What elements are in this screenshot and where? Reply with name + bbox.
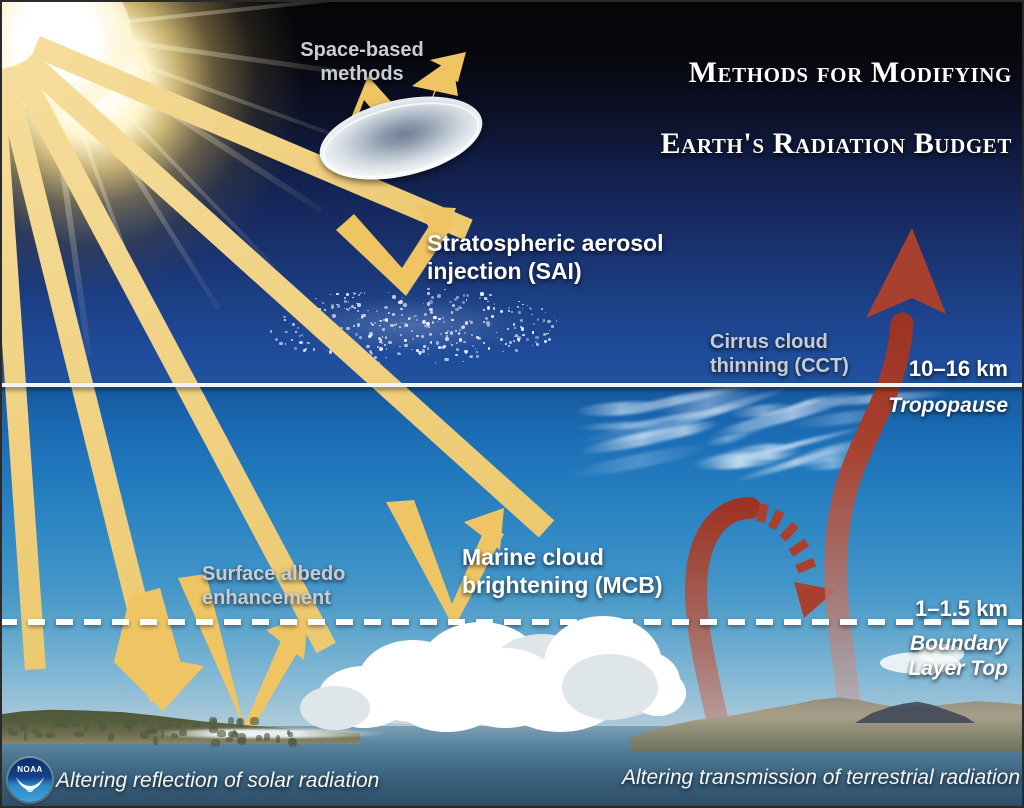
vegetation-speck (228, 717, 234, 725)
vegetation-speck (179, 729, 187, 736)
tropopause-line (0, 383, 1024, 387)
vegetation-speck (129, 720, 137, 726)
vegetation-speck (108, 733, 114, 741)
vegetation-speck (177, 721, 181, 725)
vegetation-speck (12, 715, 18, 723)
vegetation-speck (115, 713, 122, 717)
vegetation-speck (20, 724, 27, 731)
vegetation-speck (153, 736, 158, 745)
vegetation-speck (44, 716, 49, 719)
sky-stratosphere-layer (0, 0, 1024, 386)
noaa-seagull-icon (15, 776, 45, 794)
vegetation-speck (230, 732, 238, 738)
vegetation-speck (32, 729, 38, 733)
infographic-canvas: Methods for Modifying Earth's Radiation … (0, 0, 1024, 808)
vegetation-speck (45, 733, 55, 738)
vegetation-speck (38, 714, 44, 719)
vegetation-speck (236, 718, 244, 727)
vegetation-speck (8, 727, 14, 735)
vegetation-speck (98, 719, 105, 724)
vegetation-speck (171, 733, 178, 738)
vegetation-speck (74, 732, 84, 737)
vegetation-speck (148, 727, 157, 734)
vegetation-speck (276, 735, 280, 743)
vegetation-speck (192, 723, 201, 727)
sky-troposphere-layer (0, 386, 1024, 726)
vegetation-speck (209, 717, 217, 725)
vegetation-speck (161, 731, 164, 738)
small-cloud-icon (918, 644, 964, 664)
noaa-logo: NOAA (8, 758, 52, 802)
vegetation-speck (264, 733, 270, 741)
noaa-logo-text: NOAA (8, 765, 52, 774)
vegetation-speck (209, 726, 218, 733)
vegetation-speck (2, 715, 12, 721)
vegetation-speck (256, 735, 262, 741)
vegetation-speck (157, 724, 166, 729)
vegetation-speck (217, 730, 226, 737)
vegetation-speck (71, 722, 80, 726)
vegetation-speck (211, 739, 220, 747)
vegetation-speck (250, 717, 259, 725)
vegetation-speck (141, 717, 145, 723)
vegetation-speck (182, 721, 188, 724)
vegetation-speck (61, 720, 68, 728)
vegetation-speck (238, 737, 246, 745)
vegetation-speck (84, 722, 89, 731)
boundary-layer-line (0, 619, 1024, 625)
vegetation-speck (98, 724, 107, 727)
vegetation-speck (288, 738, 296, 745)
vegetation-speck (24, 732, 27, 741)
vegetation-speck (288, 732, 293, 737)
